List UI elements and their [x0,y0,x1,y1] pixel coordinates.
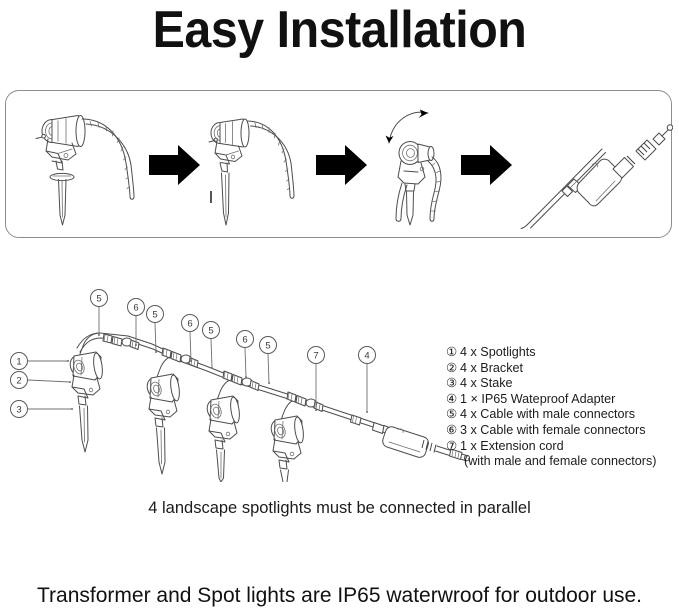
callout-2: 2 [11,372,72,389]
callout-5-a: 5 [91,290,108,337]
legend-item-3: ③4 x Stake [446,376,674,392]
legend-sub-note: (with male and female connectors) [446,454,674,470]
legend-text-4: 1 × IP65 Wateproof Adapter [460,392,615,406]
spotlight-3 [205,396,241,482]
legend-text-2: 4 x Bracket [460,361,523,375]
legend-marker-2: ② [446,361,460,377]
installation-steps-panel [5,90,672,238]
callout-3: 3 [11,401,74,418]
page-title: Easy Installation [24,2,655,58]
legend-marker-1: ① [446,345,460,361]
svg-text:6: 6 [133,303,138,314]
legend-item-4: ④1 × IP65 Wateproof Adapter [446,392,674,408]
svg-text:2: 2 [16,376,21,387]
legend-text-1: 4 x Spotlights [460,345,536,359]
svg-text:4: 4 [364,351,369,362]
spotlight-2 [145,374,181,474]
legend-marker-7: ⑦ [446,439,460,455]
callout-4: 4 [359,347,376,414]
legend-marker-3: ③ [446,376,460,392]
legend-item-2: ②4 x Bracket [446,361,674,377]
legend-text-3: 4 x Stake [460,376,513,390]
callout-5-d: 5 [260,337,277,385]
svg-text:5: 5 [265,341,270,352]
legend-text-7: 1 x Extension cord [460,439,564,453]
legend-item-6: ⑥3 x Cable with female connectors [446,423,674,439]
step-2-spotlight-mounted-on-stake [209,119,294,225]
legend-text-5: 4 x Cable with male connectors [460,407,635,421]
caption-parallel-connection: 4 landscape spotlights must be connected… [0,497,679,519]
svg-text:1: 1 [16,357,21,368]
legend-item-1: ①4 x Spotlights [446,345,674,361]
step-3-spotlight-rotate-adjust [386,110,442,226]
legend-item-7: ⑦1 x Extension cord [446,439,674,455]
callout-5-c: 5 [203,322,220,370]
caption-ip65-footer: Transformer and Spot lights are IP65 wat… [0,582,679,610]
svg-text:6: 6 [242,335,247,346]
svg-text:5: 5 [96,294,101,305]
legend-item-5: ⑤4 x Cable with male connectors [446,407,674,423]
spotlight-4 [269,416,305,482]
right-arrow-icon-3 [461,145,512,185]
svg-text:5: 5 [208,326,213,337]
legend-marker-5: ⑤ [446,407,460,423]
legend-marker-4: ④ [446,392,460,408]
step-4-waterproof-adapter-cable [521,125,673,229]
svg-text:7: 7 [313,351,318,362]
legend-text-6: 3 x Cable with female connectors [460,423,646,437]
callout-6-c: 6 [237,331,254,379]
step-1-spotlight-with-separate-stake [36,116,134,226]
parts-legend: ①4 x Spotlights ②4 x Bracket ③4 x Stake … [446,345,674,470]
right-arrow-icon-1 [149,145,200,185]
svg-text:3: 3 [16,405,21,416]
right-arrow-icon-2 [316,145,367,185]
callout-1: 1 [11,353,70,370]
svg-text:6: 6 [187,319,192,330]
spotlight-1 [68,352,104,452]
legend-marker-6: ⑥ [446,423,460,439]
parallel-wiring-diagram: 1 2 3 5 6 [0,282,470,482]
svg-text:5: 5 [152,310,157,321]
